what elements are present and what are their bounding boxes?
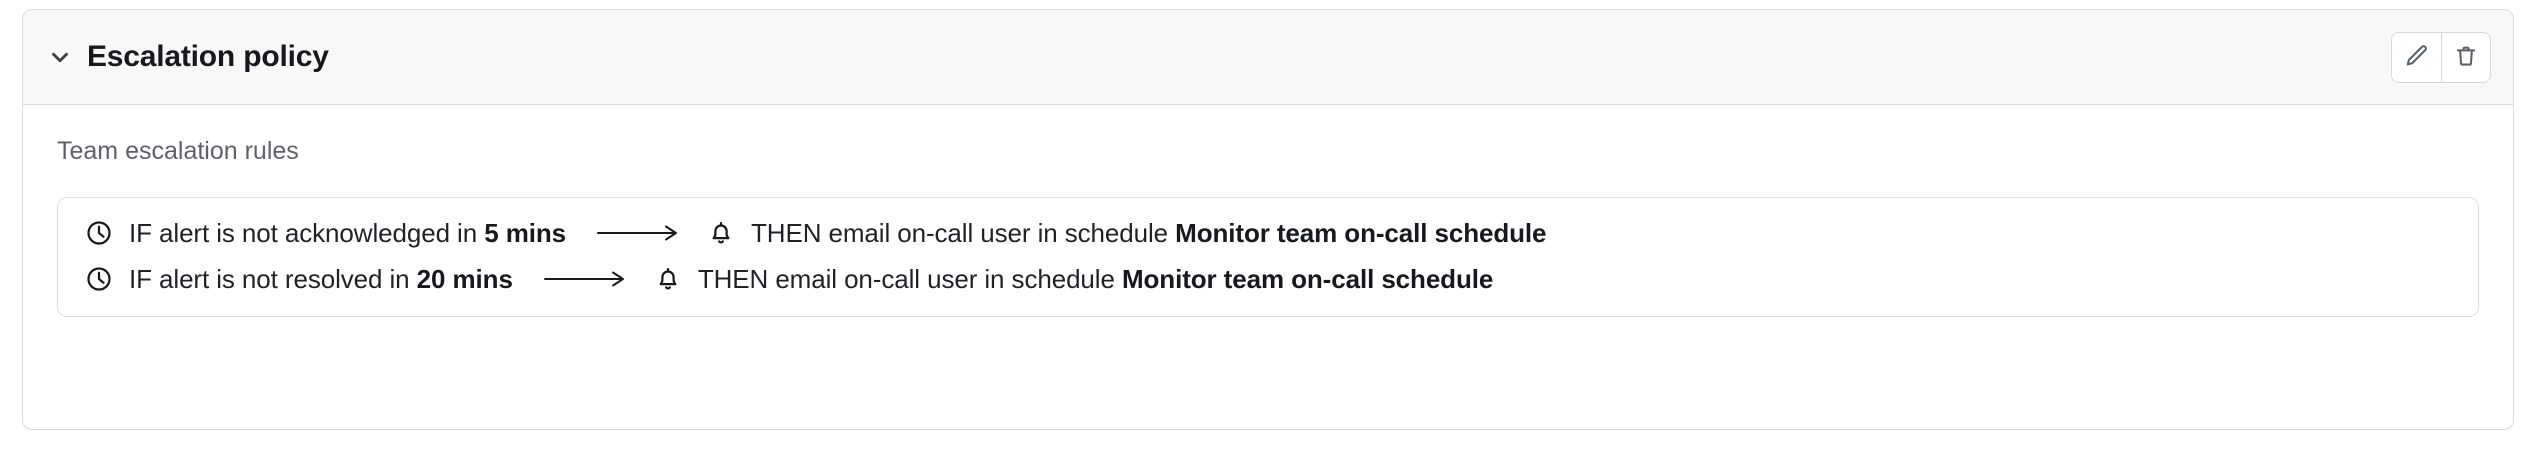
rule-condition-text: IF alert is not acknowledged in 5 mins <box>129 218 566 249</box>
rule-action: THEN email on-call user in schedule Moni… <box>706 218 1546 249</box>
rule-condition-text: IF alert is not resolved in 20 mins <box>129 264 513 295</box>
card-header-left[interactable]: Escalation policy <box>47 40 329 74</box>
rule-condition-value: 20 mins <box>417 264 513 294</box>
rule-condition-value: 5 mins <box>484 218 566 248</box>
bell-icon <box>653 264 683 294</box>
clock-icon <box>84 264 114 294</box>
delete-button[interactable] <box>2441 33 2490 82</box>
clock-icon <box>84 218 114 248</box>
rule-action-text: THEN email on-call user in schedule Moni… <box>698 264 1493 295</box>
rule-condition: IF alert is not resolved in 20 mins <box>84 264 513 295</box>
action-button-group <box>2391 32 2491 83</box>
section-label: Team escalation rules <box>45 105 2491 166</box>
rule-action-prefix: THEN email on-call user in schedule <box>751 218 1175 248</box>
chevron-down-icon[interactable] <box>47 44 73 70</box>
arrow-right-icon <box>596 222 680 244</box>
pencil-icon <box>2404 43 2430 72</box>
card-body: Team escalation rules IF alert is not ac… <box>23 105 2513 317</box>
escalation-policy-card: Escalation policy <box>22 9 2514 430</box>
rule-action-prefix: THEN email on-call user in schedule <box>698 264 1122 294</box>
escalation-rules-list: IF alert is not acknowledged in 5 mins <box>57 197 2479 317</box>
rule-action-value: Monitor team on-call schedule <box>1175 218 1546 248</box>
edit-button[interactable] <box>2392 33 2441 82</box>
card-header: Escalation policy <box>23 10 2513 105</box>
escalation-rule-row: IF alert is not resolved in 20 mins <box>58 256 2478 302</box>
bell-icon <box>706 218 736 248</box>
trash-icon <box>2453 43 2479 72</box>
escalation-rule-row: IF alert is not acknowledged in 5 mins <box>58 210 2478 256</box>
rule-action: THEN email on-call user in schedule Moni… <box>653 264 1493 295</box>
page-title: Escalation policy <box>87 40 329 74</box>
arrow-right-icon <box>543 268 627 290</box>
rule-condition-prefix: IF alert is not resolved in <box>129 264 417 294</box>
rule-condition-prefix: IF alert is not acknowledged in <box>129 218 484 248</box>
rule-action-value: Monitor team on-call schedule <box>1122 264 1493 294</box>
rule-action-text: THEN email on-call user in schedule Moni… <box>751 218 1546 249</box>
card-header-actions <box>2391 32 2491 83</box>
rule-condition: IF alert is not acknowledged in 5 mins <box>84 218 566 249</box>
